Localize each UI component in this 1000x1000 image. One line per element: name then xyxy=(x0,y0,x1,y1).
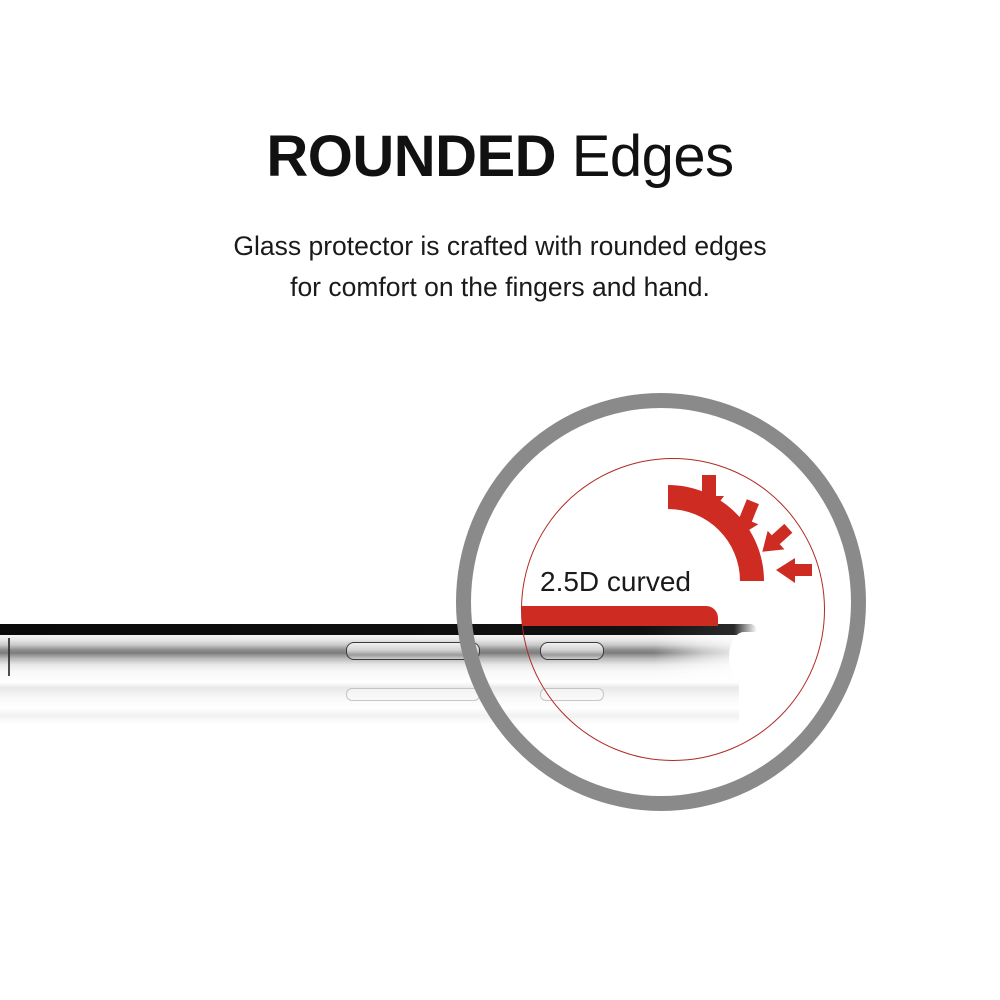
page-title-strong: ROUNDED xyxy=(266,124,556,189)
callout-label-2-5d-curved: 2.5D curved xyxy=(540,566,691,598)
page-subtitle-line-2: for comfort on the fingers and hand. xyxy=(0,267,1000,308)
frame-seam-line xyxy=(8,638,10,676)
volume-rocker-reflection xyxy=(346,688,480,701)
page-subtitle-line-1: Glass protector is crafted with rounded … xyxy=(0,226,1000,267)
product-feature-banner: ROUNDED Edges Glass protector is crafted… xyxy=(0,0,1000,1000)
page-title: ROUNDED Edges xyxy=(0,126,1000,187)
page-subtitle: Glass protector is crafted with rounded … xyxy=(0,226,1000,309)
magnifier-outer-ring xyxy=(456,393,866,811)
page-title-light: Edges xyxy=(556,124,734,189)
